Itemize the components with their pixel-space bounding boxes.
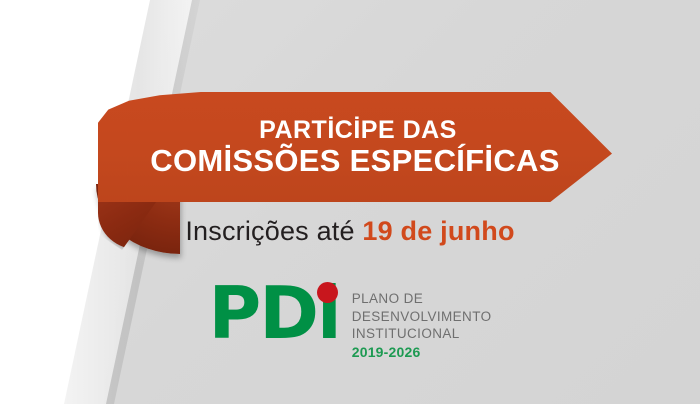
pdi-logo-caption: PLANO DE DESENVOLVIMENTO INSTITUCIONAL 2… <box>352 282 492 361</box>
pdi-logo-inner: PDi PLANO DE DESENVOLVIMENTO INSTITUCION… <box>208 282 491 361</box>
poster-canvas: PARTİCİPE DAS COMİSSÕES ESPECÍFİCAS Insc… <box>0 0 700 404</box>
ribbon-headline: PARTİCİPE DAS COMİSSÕES ESPECÍFİCAS <box>98 92 612 202</box>
deadline-text: Inscrições até 19 de junho <box>0 216 700 247</box>
pdi-logo-mark: PDi <box>208 282 339 343</box>
deadline-prefix: Inscrições até <box>185 216 362 246</box>
pdi-logo-pd: PD <box>208 271 317 355</box>
pdi-logo: PDi PLANO DE DESENVOLVIMENTO INSTITUCION… <box>0 282 700 361</box>
headline-line-1: PARTİCİPE DAS <box>253 117 457 143</box>
pdi-caption-line-3: INSTITUCIONAL <box>352 325 492 343</box>
deadline-date: 19 de junho <box>362 216 514 246</box>
headline-line-2: COMİSSÕES ESPECÍFİCAS <box>150 145 559 178</box>
red-dot-icon <box>317 282 338 303</box>
pdi-caption-line-2: DESENVOLVIMENTO <box>352 308 492 326</box>
pdi-caption-years: 2019-2026 <box>352 343 492 361</box>
pdi-caption-line-1: PLANO DE <box>352 290 492 308</box>
